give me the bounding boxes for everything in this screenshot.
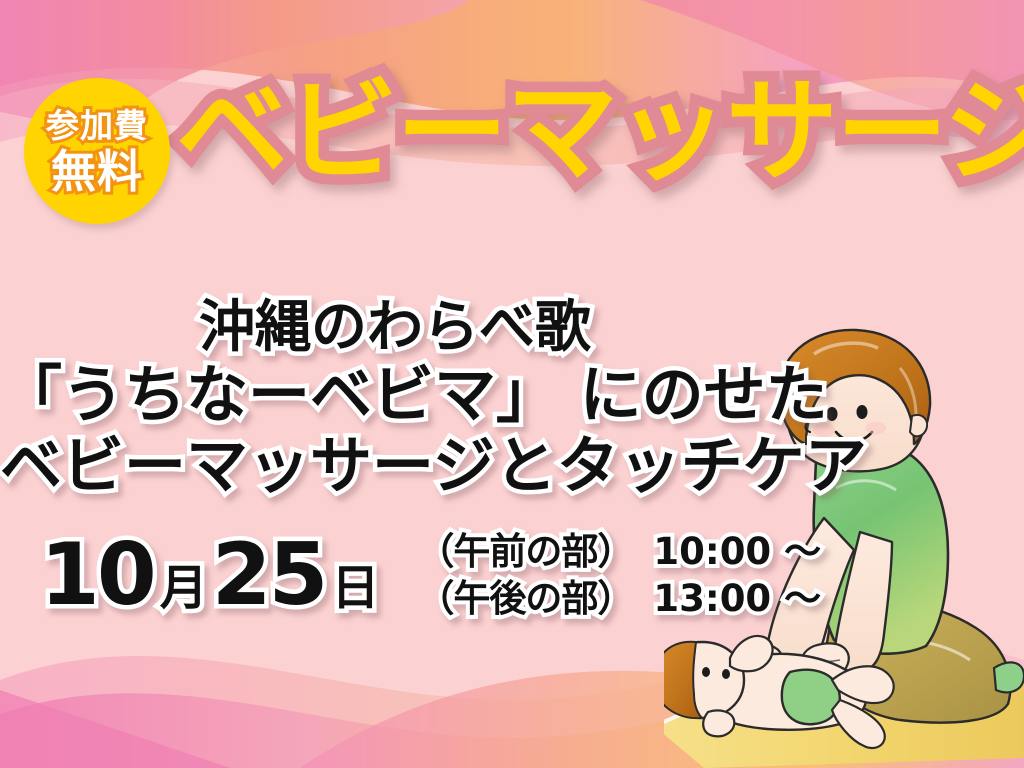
subtitle-block: 沖縄のわらべ歌 「うちなーベビマ」 にのせた ベビーマッサージとタッチケア xyxy=(0,296,790,501)
session-row-morning: （午前の部） 10:00 〜 xyxy=(417,528,821,575)
session-label-morning: （午前の部） xyxy=(417,528,633,575)
badge-line-participation-fee: 参加費 xyxy=(46,109,148,142)
subtitle-line-1: 沖縄のわらべ歌 xyxy=(0,296,790,360)
session-time-morning: 10:00 〜 xyxy=(653,528,821,575)
event-sessions: （午前の部） 10:00 〜 （午後の部） 13:00 〜 xyxy=(417,528,821,623)
session-row-afternoon: （午後の部） 13:00 〜 xyxy=(417,575,821,622)
subtitle-line-2: 「うちなーベビマ」 にのせた xyxy=(0,360,790,431)
event-day-number: 25 xyxy=(212,532,326,618)
event-date: 10 月 25 日 xyxy=(40,532,383,618)
session-time-afternoon: 13:00 〜 xyxy=(653,575,821,622)
schedule-block: 10 月 25 日 （午前の部） 10:00 〜 （午後の部） 13:00 〜 xyxy=(40,528,821,623)
free-participation-badge: 参加費 無料 xyxy=(24,78,170,224)
badge-line-free: 無料 xyxy=(51,149,143,194)
poster-canvas: 参加費 無料 ベビーマッサージ教室 沖縄のわらべ歌 「うちなーベビマ」 にのせた… xyxy=(0,0,1024,768)
subtitle-line-3: ベビーマッサージとタッチケア xyxy=(0,431,790,502)
event-day-unit: 日 xyxy=(331,564,379,612)
page-title: ベビーマッサージ教室 xyxy=(176,76,1024,188)
event-month-unit: 月 xyxy=(160,564,208,612)
session-label-afternoon: （午後の部） xyxy=(417,575,633,622)
event-month-number: 10 xyxy=(40,532,154,618)
